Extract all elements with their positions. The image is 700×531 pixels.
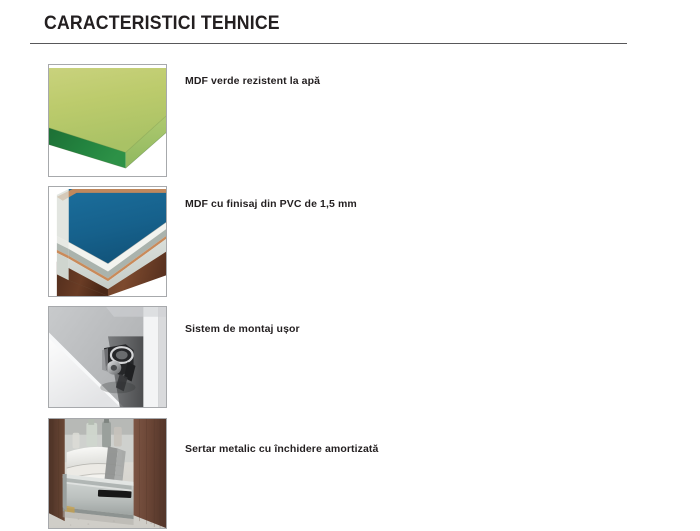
title-divider xyxy=(30,43,627,44)
feature-label-mdf-pvc: MDF cu finisaj din PVC de 1,5 mm xyxy=(185,198,357,210)
feature-thumbnail-mdf-verde[interactable] xyxy=(48,64,167,177)
page-title: CARACTERISTICI TEHNICE xyxy=(44,13,280,35)
metal-drawer-soft-close-photo xyxy=(49,419,166,528)
feature-label-sistem-montaj: Sistem de montaj ușor xyxy=(185,323,300,335)
feature-label-sertar-metalic: Sertar metalic cu închidere amortizată xyxy=(185,443,378,455)
mounting-bracket-grayscale-photo xyxy=(49,307,166,407)
feature-thumbnail-sistem-montaj[interactable] xyxy=(48,306,167,408)
feature-label-mdf-verde: MDF verde rezistent la apă xyxy=(185,75,320,87)
layered-pvc-panel-corner-photo xyxy=(49,187,166,296)
feature-thumbnail-mdf-pvc[interactable] xyxy=(48,186,167,297)
green-mdf-board-photo xyxy=(49,65,166,176)
feature-thumbnail-sertar-metalic[interactable] xyxy=(48,418,167,529)
